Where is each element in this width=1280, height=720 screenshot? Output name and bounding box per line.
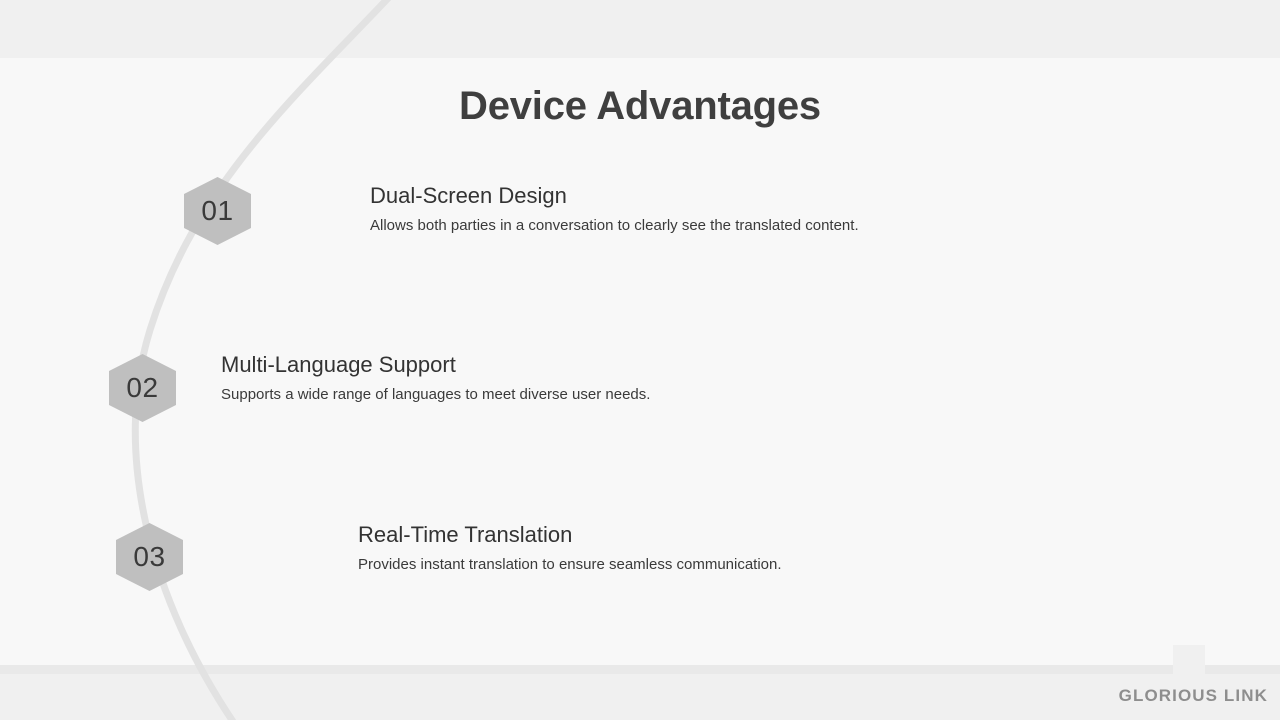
item-block-03: Real-Time Translation Provides instant t… xyxy=(358,522,782,574)
step-number-02: 02 xyxy=(109,354,176,422)
step-number-01: 01 xyxy=(184,177,251,245)
page-title: Device Advantages xyxy=(0,84,1280,129)
brand-logo: GLORIOUS LINK xyxy=(1119,686,1268,706)
item-block-02: Multi-Language Support Supports a wide r… xyxy=(221,352,650,404)
top-band xyxy=(0,0,1280,58)
bottom-divider-band xyxy=(0,665,1280,674)
step-number-03: 03 xyxy=(116,523,183,591)
item-description-02: Supports a wide range of languages to me… xyxy=(221,385,650,405)
item-description-03: Provides instant translation to ensure s… xyxy=(358,555,782,575)
slide-canvas: Device Advantages 01 Dual-Screen Design … xyxy=(0,0,1280,720)
item-title-02: Multi-Language Support xyxy=(221,352,650,378)
item-title-03: Real-Time Translation xyxy=(358,522,782,548)
step-marker-02[interactable]: 02 xyxy=(109,354,176,422)
item-description-01: Allows both parties in a conversation to… xyxy=(370,216,859,236)
bottom-band xyxy=(0,674,1280,720)
item-title-01: Dual-Screen Design xyxy=(370,183,859,209)
step-marker-01[interactable]: 01 xyxy=(184,177,251,245)
step-marker-03[interactable]: 03 xyxy=(116,523,183,591)
item-block-01: Dual-Screen Design Allows both parties i… xyxy=(370,183,859,235)
footer-tab-shape xyxy=(1173,645,1205,674)
